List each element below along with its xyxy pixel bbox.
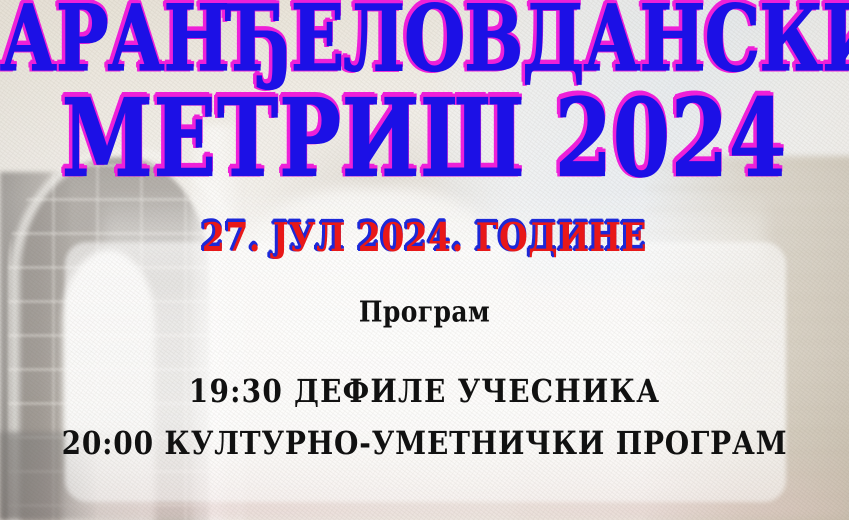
program-item-kulturno-umetnicki: 20:00 КУЛТУРНО-УМЕТНИЧКИ ПРОГРАМ <box>0 428 849 459</box>
program-heading: Програм <box>0 297 849 326</box>
event-poster: АРАНЂЕЛОВДАНСКИ САБОР МЕТРИШ 2024 27. ЈУ… <box>0 0 849 520</box>
poster-text: АРАНЂЕЛОВДАНСКИ САБОР МЕТРИШ 2024 27. ЈУ… <box>0 0 849 520</box>
program-item-defile: 19:30 ДЕФИЛЕ УЧЕСНИКА <box>0 376 849 407</box>
poster-title-line-2: МЕТРИШ 2024 <box>0 86 849 193</box>
poster-date: 27. ЈУЛ 2024. ГОДИНЕ <box>0 218 849 257</box>
poster-title-line-1: АРАНЂЕЛОВДАНСКИ САБОР <box>0 0 849 85</box>
